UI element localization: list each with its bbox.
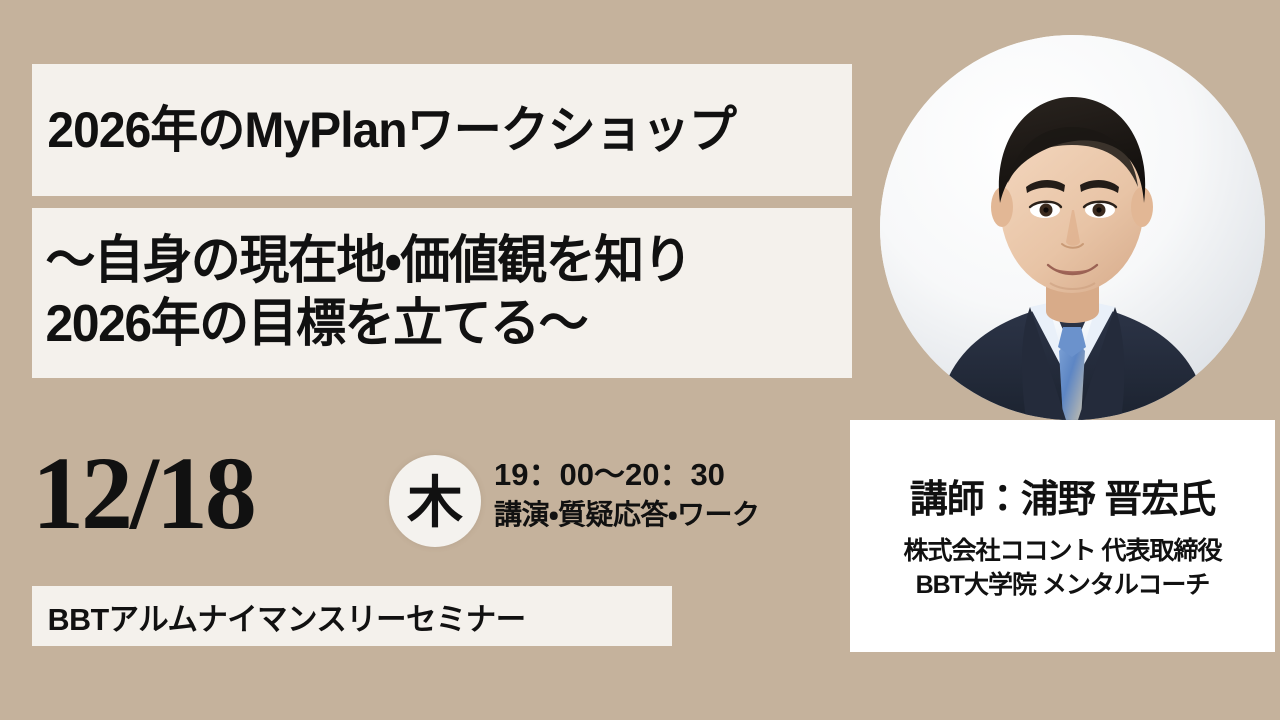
event-time: 19：00〜20：30 <box>494 456 834 495</box>
page-title: 2026年のMyPlanワークショップ <box>32 104 736 157</box>
time-block: 19：00〜20：30 講演・質疑応答・ワーク <box>494 456 834 532</box>
title-box: 2026年のMyPlanワークショップ <box>32 64 852 196</box>
subtitle-line-1: 〜自身の現在地・価値観を知り <box>32 230 819 293</box>
date-row: 12/18 木 19：00〜20：30 講演・質疑応答・ワーク <box>32 438 832 558</box>
speaker-name: 講師：浦野 晋宏氏 <box>910 476 1216 525</box>
seminar-poster: 2026年のMyPlanワークショップ 〜自身の現在地・価値観を知り 2026年… <box>0 0 1280 720</box>
subtitle-line-2: 2026年の目標を立てる〜 <box>32 293 819 356</box>
speaker-affiliation-role: BBT大学院 メンタルコーチ <box>916 569 1210 603</box>
subtitle-box: 〜自身の現在地・価値観を知り 2026年の目標を立てる〜 <box>32 208 852 378</box>
series-banner: BBTアルムナイマンスリーセミナー <box>32 586 672 646</box>
speaker-info-panel: 講師：浦野 晋宏氏 株式会社ココント 代表取締役 BBT大学院 メンタルコーチ <box>850 420 1275 652</box>
speaker-affiliation-company: 株式会社ココント 代表取締役 <box>904 535 1222 569</box>
day-of-week-label: 木 <box>407 475 463 531</box>
event-agenda: 講演・質疑応答・ワーク <box>494 497 834 532</box>
event-date: 12/18 <box>32 438 254 550</box>
day-of-week-badge: 木 <box>389 455 481 547</box>
series-banner-label: BBTアルムナイマンスリーセミナー <box>32 594 526 639</box>
speaker-photo <box>880 35 1265 420</box>
